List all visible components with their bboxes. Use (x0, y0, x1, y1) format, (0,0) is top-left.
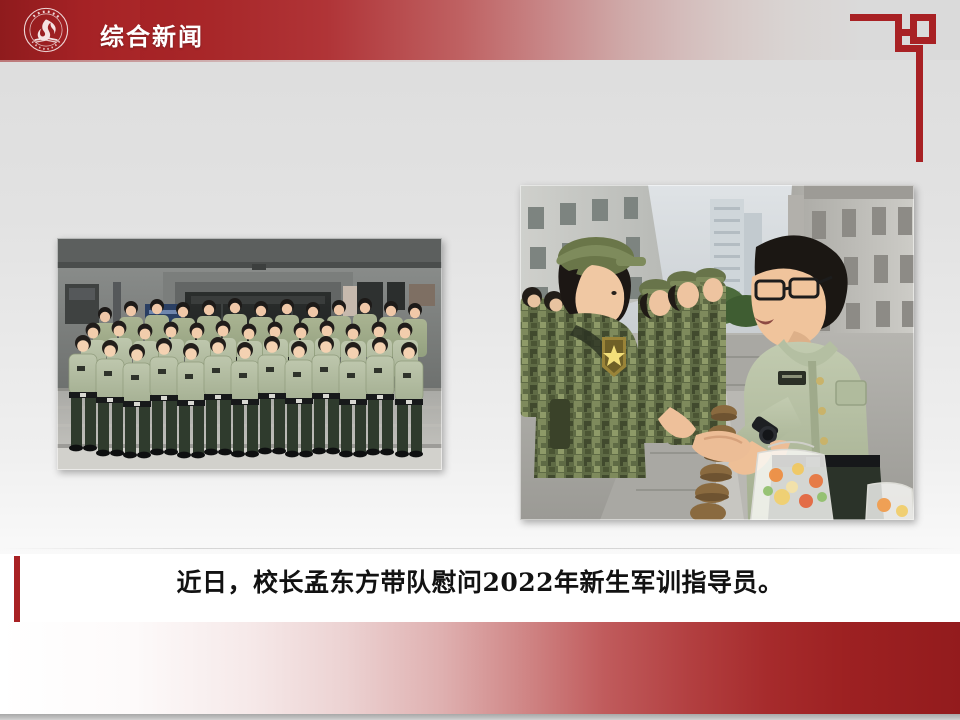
photo-caption: 近日，校长孟东方带队慰问2022年新生军训指导员。 (0, 563, 960, 599)
page-title: 综合新闻 (100, 17, 204, 52)
chinese-corner-ornament-icon (850, 14, 936, 162)
handshake-photo-principal-greeting-students (520, 185, 914, 520)
header-underline (0, 60, 960, 62)
footer-gradient-band (0, 622, 960, 714)
caption-separator (0, 548, 960, 549)
footer-bottom-strip (0, 714, 960, 720)
university-emblem-icon (23, 7, 69, 53)
news-slide: 综合新闻 (0, 0, 960, 720)
group-photo-uniformed-staff (57, 238, 442, 470)
